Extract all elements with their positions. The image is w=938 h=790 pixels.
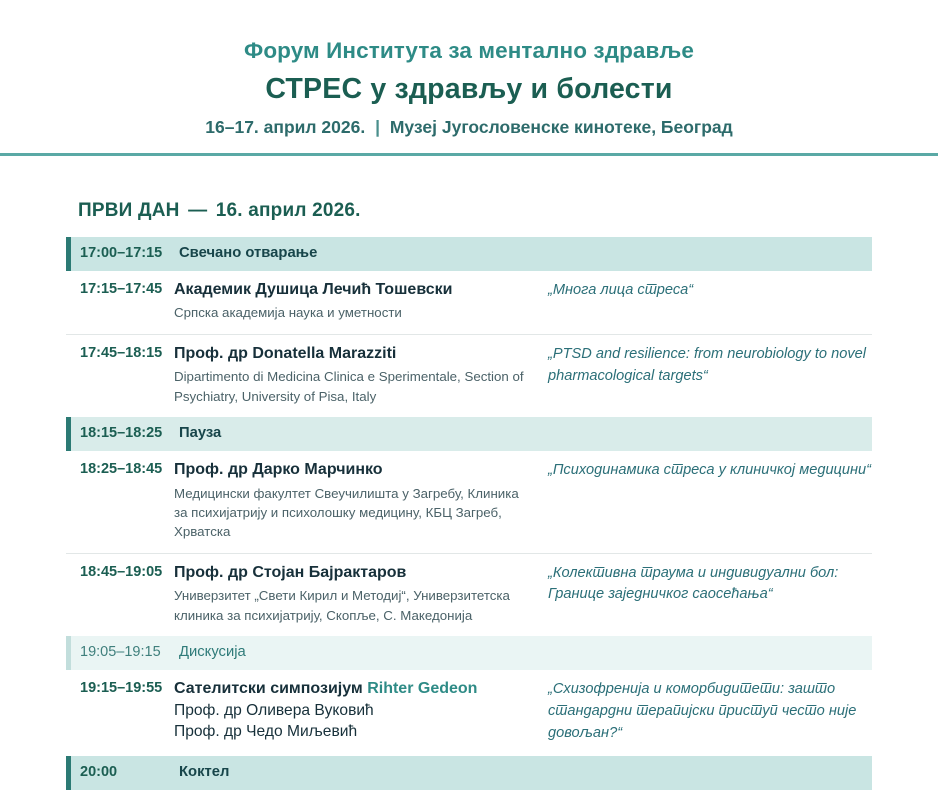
speaker-affiliation: Српска академија наука и уметности bbox=[174, 303, 534, 322]
talk-title: „Многа лица стреса“ bbox=[548, 280, 872, 302]
day-heading: ПРВИ ДАН — 16. април 2026. bbox=[78, 200, 938, 222]
table-row: 18:25–18:45 Проф. др Дарко Марчинко Меди… bbox=[66, 451, 872, 553]
row-time: 18:15–18:25 bbox=[71, 424, 179, 444]
speaker-name: Академик Душица Лечић Тошевски bbox=[174, 280, 534, 301]
row-title-block: „PTSD and resilience: from neurobiology … bbox=[546, 344, 872, 388]
row-label: Дискусија bbox=[179, 643, 246, 663]
table-row: 20:00 Коктел bbox=[66, 756, 872, 790]
row-title-block: „Многа лица стреса“ bbox=[546, 280, 872, 302]
header-subline: 16–17. април 2026. | Музеј Југословенске… bbox=[0, 117, 938, 138]
speaker-name: Проф. др Стојан Бајрактаров bbox=[174, 563, 534, 584]
row-label: Пауза bbox=[179, 424, 221, 444]
row-title-block: „Психодинамика стреса у клиничкој медици… bbox=[546, 460, 872, 482]
row-time: 17:00–17:15 bbox=[71, 244, 179, 264]
speaker-affiliation: Медицински факултет Свеучилишта у Загреб… bbox=[174, 484, 534, 542]
row-title-block: „Колективна траума и индивидуални бол: Г… bbox=[546, 563, 872, 607]
talk-title: „Схизофренија и коморбидитети: зашто ста… bbox=[548, 679, 872, 745]
row-title-block: „Схизофренија и коморбидитети: зашто ста… bbox=[546, 679, 872, 745]
program-header: Форум Института за ментално здравље СТРЕ… bbox=[0, 0, 938, 138]
table-row: 18:45–19:05 Проф. др Стојан Бајрактаров … bbox=[66, 553, 872, 636]
row-time: 19:05–19:15 bbox=[71, 643, 179, 663]
row-time: 18:45–19:05 bbox=[66, 563, 174, 583]
day-dash: — bbox=[185, 200, 210, 221]
symposium-sponsor: Rihter Gedeon bbox=[367, 680, 477, 697]
talk-title: „PTSD and resilience: from neurobiology … bbox=[548, 344, 872, 388]
row-time: 17:15–17:45 bbox=[66, 280, 174, 300]
event-dates: 16–17. април 2026. bbox=[205, 117, 365, 137]
talk-title: „Колективна траума и индивидуални бол: Г… bbox=[548, 563, 872, 607]
speaker-affiliation: Универзитет „Свети Кирил и Методиј“, Уни… bbox=[174, 586, 534, 625]
talk-title: „Психодинамика стреса у клиничкој медици… bbox=[548, 460, 872, 482]
speaker-name: Проф. др Дарко Марчинко bbox=[174, 460, 534, 481]
symposium-heading: Сателитски симпозијум Rihter Gedeon bbox=[174, 679, 534, 700]
subline-separator: | bbox=[370, 117, 385, 137]
row-speaker-block: Проф. др Дарко Марчинко Медицински факул… bbox=[174, 460, 546, 542]
speaker-affiliation: Dipartimento di Medicina Clinica e Speri… bbox=[174, 367, 534, 406]
table-row: 19:15–19:55 Сателитски симпозијум Rihter… bbox=[66, 670, 872, 756]
symposium-presenter-2: Проф. др Чедо Миљевић bbox=[174, 721, 534, 743]
row-symposium-block: Сателитски симпозијум Rihter Gedeon Проф… bbox=[174, 679, 546, 743]
row-time: 18:25–18:45 bbox=[66, 460, 174, 480]
day-label: ПРВИ ДАН bbox=[78, 200, 180, 221]
table-row: 19:05–19:15 Дискусија bbox=[66, 636, 872, 670]
row-label: Свечано отварање bbox=[179, 244, 317, 264]
table-row: 17:15–17:45 Академик Душица Лечић Тошевс… bbox=[66, 271, 872, 334]
event-venue: Музеј Југословенске кинотеке, Београд bbox=[390, 117, 733, 137]
day-date: 16. април 2026. bbox=[216, 200, 361, 221]
speaker-name: Проф. др Donatella Marazziti bbox=[174, 344, 534, 365]
row-label: Коктел bbox=[179, 763, 229, 783]
row-time: 17:45–18:15 bbox=[66, 344, 174, 364]
row-speaker-block: Проф. др Стојан Бајрактаров Универзитет … bbox=[174, 563, 546, 625]
table-row: 17:00–17:15 Свечано отварање bbox=[66, 237, 872, 271]
symposium-label: Сателитски симпозијум bbox=[174, 680, 363, 697]
row-speaker-block: Академик Душица Лечић Тошевски Српска ак… bbox=[174, 280, 546, 323]
row-time: 19:15–19:55 bbox=[66, 679, 174, 699]
table-row: 17:45–18:15 Проф. др Donatella Marazziti… bbox=[66, 334, 872, 417]
table-row: 18:15–18:25 Пауза bbox=[66, 417, 872, 451]
symposium-presenter-1: Проф. др Оливера Вуковић bbox=[174, 700, 534, 722]
page-title: СТРЕС у здрављу и болести bbox=[0, 73, 938, 106]
forum-kicker: Форум Института за ментално здравље bbox=[0, 38, 938, 64]
row-speaker-block: Проф. др Donatella Marazziti Dipartiment… bbox=[174, 344, 546, 406]
row-time: 20:00 bbox=[71, 763, 179, 783]
schedule-table: 17:00–17:15 Свечано отварање 17:15–17:45… bbox=[66, 237, 872, 790]
header-divider bbox=[0, 153, 938, 156]
